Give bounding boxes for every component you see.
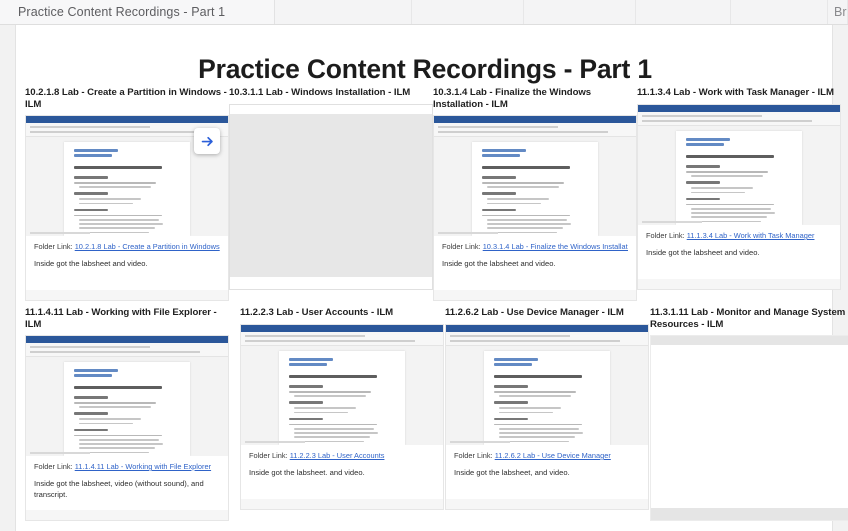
card-title: 10.3.1.4 Lab - Finalize the Windows Inst… xyxy=(433,87,637,110)
document-heading xyxy=(686,155,774,158)
document-text-line xyxy=(499,428,579,430)
card-title: 10.3.1.1 Lab - Windows Installation - IL… xyxy=(229,87,433,99)
card-title: 11.1.3.4 Lab - Work with Task Manager - … xyxy=(637,87,841,99)
document-text-line xyxy=(686,181,720,184)
arrow-right-icon[interactable] xyxy=(194,128,220,154)
folder-link-line: Folder Link: 11.1.4.11 Lab - Working wit… xyxy=(34,462,220,472)
card-description: Inside got the labsheet, and video. xyxy=(454,468,640,479)
folder-link[interactable]: 10.2.1.8 Lab - Create a Partition in Win… xyxy=(75,242,220,251)
browser-tab[interactable] xyxy=(636,0,731,25)
card-footer-strip xyxy=(241,499,443,509)
folder-link[interactable]: 11.1.3.4 Lab - Work with Task Manager xyxy=(687,231,815,240)
card-footer-strip xyxy=(434,290,636,300)
document-text-line xyxy=(686,165,720,168)
document-heading xyxy=(289,375,377,378)
cisco-networking-academy-logo xyxy=(494,358,538,368)
browser-tab[interactable] xyxy=(412,0,524,25)
folder-link-label: Folder Link: xyxy=(34,242,73,251)
placeholder-bar xyxy=(651,508,848,520)
document-heading xyxy=(74,386,162,389)
document-text-line xyxy=(691,175,763,177)
content-card: 11.2.6.2 Lab - Use Device Manager - ILMF… xyxy=(445,307,649,510)
document-text-line xyxy=(494,424,582,426)
folder-link-label: Folder Link: xyxy=(454,451,493,460)
card-description: Inside got the labsheet and video. xyxy=(34,259,220,270)
document-page-preview xyxy=(676,131,802,225)
folder-link-line: Folder Link: 11.2.6.2 Lab - Use Device M… xyxy=(454,451,640,461)
document-page: Practice Content Recordings - Part 1 10.… xyxy=(15,25,833,531)
browser-tab[interactable] xyxy=(731,0,828,25)
document-text-line xyxy=(482,215,570,217)
word-title-bar xyxy=(241,325,443,332)
document-text-line xyxy=(691,187,753,189)
document-text-line xyxy=(686,171,768,173)
document-text-line xyxy=(487,223,571,225)
document-text-line xyxy=(487,203,541,205)
word-title-bar xyxy=(26,336,228,343)
document-text-line xyxy=(289,401,323,404)
card-title: 11.1.4.11 Lab - Working with File Explor… xyxy=(25,307,229,330)
card-body xyxy=(229,104,433,290)
document-text-line xyxy=(74,176,108,179)
document-text-line xyxy=(79,443,163,445)
card-text-block: Folder Link: 11.1.3.4 Lab - Work with Ta… xyxy=(638,225,840,259)
word-status-bar xyxy=(642,221,702,223)
card-text-block: Folder Link: 11.2.2.3 Lab - User Account… xyxy=(241,445,443,479)
word-ribbon xyxy=(26,343,228,357)
document-text-line xyxy=(74,182,156,184)
document-text-line xyxy=(487,198,549,200)
browser-tab[interactable] xyxy=(524,0,636,25)
document-thumbnail[interactable] xyxy=(434,116,636,236)
card-title: 10.2.1.8 Lab - Create a Partition in Win… xyxy=(25,87,229,110)
card-description: Inside got the labsheet. and video. xyxy=(249,468,435,479)
page-title: Practice Content Recordings - Part 1 xyxy=(16,54,834,85)
document-text-line xyxy=(686,198,720,201)
document-text-line xyxy=(79,423,133,425)
document-text-line xyxy=(74,402,156,404)
card-body: Folder Link: 11.2.6.2 Lab - Use Device M… xyxy=(445,324,649,510)
document-thumbnail[interactable] xyxy=(241,325,443,445)
document-page-preview xyxy=(279,351,405,445)
card-body: Folder Link: 11.1.3.4 Lab - Work with Ta… xyxy=(637,104,841,290)
document-text-line xyxy=(294,395,366,397)
content-card: 11.2.2.3 Lab - User Accounts - ILMFolder… xyxy=(240,307,444,510)
word-ribbon xyxy=(434,123,636,137)
word-status-bar xyxy=(30,232,90,234)
document-text-line xyxy=(499,395,571,397)
content-card: 10.2.1.8 Lab - Create a Partition in Win… xyxy=(25,87,229,301)
cisco-networking-academy-logo xyxy=(289,358,333,368)
card-footer-strip xyxy=(446,499,648,509)
folder-link-label: Folder Link: xyxy=(646,231,685,240)
card-grid-row: 11.1.4.11 Lab - Working with File Explor… xyxy=(25,307,835,527)
document-text-line xyxy=(494,385,528,388)
document-text-line xyxy=(294,412,348,414)
document-text-line xyxy=(482,176,516,179)
document-text-line xyxy=(289,385,323,388)
document-heading xyxy=(74,166,162,169)
word-status-bar xyxy=(438,232,498,234)
document-text-line xyxy=(482,209,516,212)
document-thumbnail[interactable] xyxy=(26,116,228,236)
document-text-line xyxy=(79,223,163,225)
document-text-line xyxy=(294,407,356,409)
content-card: 10.3.1.1 Lab - Windows Installation - IL… xyxy=(229,87,433,290)
browser-tab[interactable]: Br xyxy=(828,0,848,25)
document-text-line xyxy=(494,401,528,404)
word-status-bar xyxy=(245,441,305,443)
word-status-bar xyxy=(30,452,90,454)
document-text-line xyxy=(499,407,561,409)
document-text-line xyxy=(289,418,323,421)
document-page-preview xyxy=(472,142,598,236)
content-card: 11.3.1.11 Lab - Monitor and Manage Syste… xyxy=(650,307,848,521)
document-text-line xyxy=(487,186,559,188)
card-body xyxy=(650,335,848,521)
word-title-bar xyxy=(638,105,840,112)
document-text-line xyxy=(499,432,583,434)
document-text-line xyxy=(74,209,108,212)
card-title: 11.2.6.2 Lab - Use Device Manager - ILM xyxy=(445,307,649,319)
card-body: Folder Link: 10.2.1.8 Lab - Create a Par… xyxy=(25,115,229,301)
document-thumbnail[interactable] xyxy=(446,325,648,445)
document-page-preview xyxy=(484,351,610,445)
word-title-bar xyxy=(26,116,228,123)
document-text-line xyxy=(79,447,155,449)
folder-link-line: Folder Link: 11.1.3.4 Lab - Work with Ta… xyxy=(646,231,832,241)
content-card: 11.1.4.11 Lab - Working with File Explor… xyxy=(25,307,229,521)
document-text-line xyxy=(74,192,108,195)
document-text-line xyxy=(79,439,159,441)
document-text-line xyxy=(289,424,377,426)
card-body: Folder Link: 11.2.2.3 Lab - User Account… xyxy=(240,324,444,510)
word-title-bar xyxy=(434,116,636,123)
browser-tab-label: Br xyxy=(834,5,847,19)
document-text-line xyxy=(686,204,774,206)
browser-tab[interactable]: Practice Content Recordings - Part 1 xyxy=(0,0,275,25)
placeholder-bar xyxy=(651,336,848,345)
document-text-line xyxy=(482,182,564,184)
document-text-line xyxy=(691,216,767,218)
document-text-line xyxy=(79,203,133,205)
folder-link-line: Folder Link: 10.3.1.4 Lab - Finalize the… xyxy=(442,242,628,252)
card-footer-strip xyxy=(26,510,228,520)
document-text-line xyxy=(79,198,141,200)
document-text-line xyxy=(74,396,108,399)
document-canvas: Practice Content Recordings - Part 1 10.… xyxy=(0,25,848,531)
card-footer-strip xyxy=(26,290,228,300)
cisco-networking-academy-logo xyxy=(686,138,730,148)
document-text-line xyxy=(79,186,151,188)
document-text-line xyxy=(294,432,378,434)
card-grid-row: 10.2.1.8 Lab - Create a Partition in Win… xyxy=(25,87,835,307)
card-title: 11.2.2.3 Lab - User Accounts - ILM xyxy=(240,307,444,319)
document-text-line xyxy=(499,436,575,438)
folder-link[interactable]: 11.2.2.3 Lab - User Accounts xyxy=(290,451,385,460)
document-text-line xyxy=(74,215,162,217)
document-text-line xyxy=(482,192,516,195)
folder-link-label: Folder Link: xyxy=(442,242,481,251)
browser-tab[interactable] xyxy=(275,0,412,25)
content-card: 11.1.3.4 Lab - Work with Task Manager - … xyxy=(637,87,841,290)
placeholder-bar xyxy=(230,105,432,114)
browser-tab-strip: Practice Content Recordings - Part 1Br xyxy=(0,0,848,25)
folder-link[interactable]: 11.1.4.11 Lab - Working with File Explor… xyxy=(75,462,211,471)
document-text-line xyxy=(294,436,370,438)
folder-link-label: Folder Link: xyxy=(249,451,288,460)
browser-tab-label: Practice Content Recordings - Part 1 xyxy=(18,5,225,19)
document-text-line xyxy=(74,412,108,415)
card-text-block: Folder Link: 10.2.1.8 Lab - Create a Par… xyxy=(26,236,228,270)
card-text-block: Folder Link: 11.2.6.2 Lab - Use Device M… xyxy=(446,445,648,479)
card-text-block: Folder Link: 10.3.1.4 Lab - Finalize the… xyxy=(434,236,636,270)
document-page-preview xyxy=(64,142,190,236)
document-page-preview xyxy=(64,362,190,456)
document-text-line xyxy=(691,192,745,194)
document-text-line xyxy=(499,412,553,414)
cisco-networking-academy-logo xyxy=(482,149,526,159)
folder-link-line: Folder Link: 11.2.2.3 Lab - User Account… xyxy=(249,451,435,461)
document-heading xyxy=(494,375,582,378)
word-ribbon xyxy=(446,332,648,346)
card-footer-strip xyxy=(638,279,840,289)
placeholder-bar xyxy=(230,277,432,289)
document-text-line xyxy=(79,227,155,229)
document-heading xyxy=(482,166,570,169)
document-text-line xyxy=(79,418,141,420)
folder-link[interactable]: 10.3.1.4 Lab - Finalize the Windows Inst… xyxy=(483,242,628,251)
document-text-line xyxy=(74,435,162,437)
word-status-bar xyxy=(450,441,510,443)
document-text-line xyxy=(289,391,371,393)
document-text-line xyxy=(74,429,108,432)
card-text-block: Folder Link: 11.1.4.11 Lab - Working wit… xyxy=(26,456,228,500)
document-text-line xyxy=(487,219,567,221)
document-text-line xyxy=(691,212,775,214)
document-text-line xyxy=(494,391,576,393)
card-title: 11.3.1.11 Lab - Monitor and Manage Syste… xyxy=(650,307,848,330)
document-thumbnail[interactable] xyxy=(638,105,840,225)
document-text-line xyxy=(79,406,151,408)
card-body: Folder Link: 11.1.4.11 Lab - Working wit… xyxy=(25,335,229,521)
document-text-line xyxy=(294,428,374,430)
folder-link-label: Folder Link: xyxy=(34,462,73,471)
document-text-line xyxy=(79,219,159,221)
card-description: Inside got the labsheet and video. xyxy=(442,259,628,270)
folder-link[interactable]: 11.2.6.2 Lab - Use Device Manager xyxy=(495,451,611,460)
card-body: Folder Link: 10.3.1.4 Lab - Finalize the… xyxy=(433,115,637,301)
document-text-line xyxy=(691,208,771,210)
word-title-bar xyxy=(446,325,648,332)
card-description: Inside got the labsheet, video (without … xyxy=(34,479,220,500)
cisco-networking-academy-logo xyxy=(74,149,118,159)
document-text-line xyxy=(494,418,528,421)
document-text-line xyxy=(487,227,563,229)
word-ribbon xyxy=(241,332,443,346)
card-grid: 10.2.1.8 Lab - Create a Partition in Win… xyxy=(25,87,835,527)
folder-link-line: Folder Link: 10.2.1.8 Lab - Create a Par… xyxy=(34,242,220,252)
word-ribbon xyxy=(638,112,840,126)
cisco-networking-academy-logo xyxy=(74,369,118,379)
document-thumbnail[interactable] xyxy=(26,336,228,456)
content-card: 10.3.1.4 Lab - Finalize the Windows Inst… xyxy=(433,87,637,301)
card-description: Inside got the labsheet and video. xyxy=(646,248,832,259)
